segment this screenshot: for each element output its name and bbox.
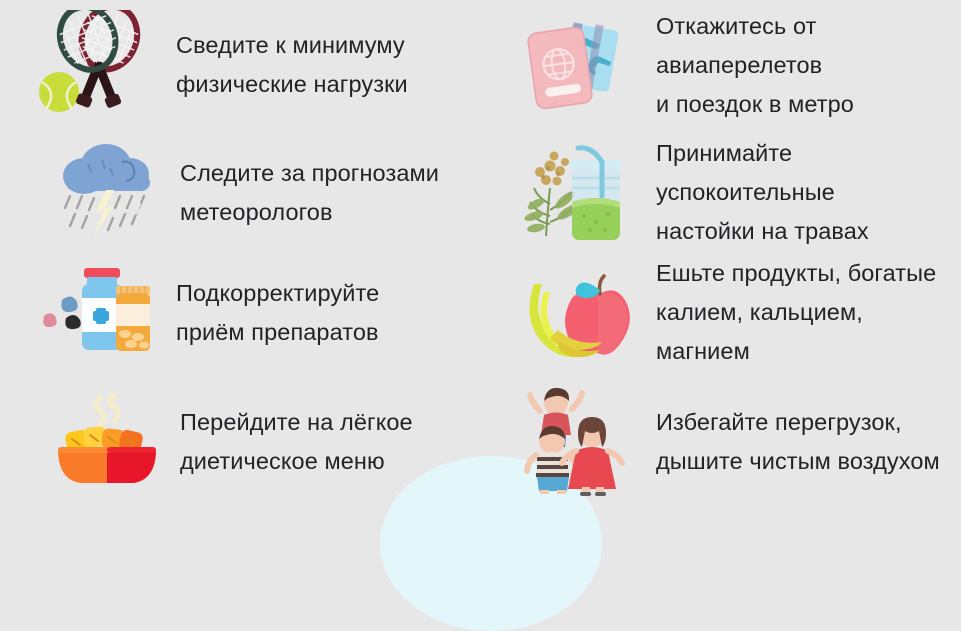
- tip-line-1: Следите за прогнозами: [180, 160, 439, 186]
- tip-label: Следите за прогнозами метеорологов: [180, 154, 439, 232]
- herbal-smoothie-icon: [510, 138, 636, 248]
- tip-line-1: Избегайте перегрузок,: [656, 409, 902, 435]
- tip-line-2: калием, кальцием, магнием: [656, 299, 863, 364]
- tips-grid: Сведите к минимуму физические нагрузки: [0, 0, 961, 513]
- tip-light-diet: Перейдите на лёгкое диетическое меню: [0, 370, 480, 513]
- tip-line-2: и поездок в метро: [656, 91, 854, 117]
- tip-avoid-flights: Откажитесь от авиаперелетов и поездок в …: [480, 0, 961, 130]
- tip-weather-forecast: Следите за прогнозами метеорологов: [0, 130, 480, 255]
- rain-cloud-icon: [44, 138, 170, 248]
- tip-line-2: физические нагрузки: [176, 71, 408, 97]
- tip-line-1: Принимайте успокоительные: [656, 140, 835, 205]
- tip-herbal-sedatives: Принимайте успокоительные настойки на тр…: [480, 130, 961, 255]
- passport-boarding-pass-icon: [514, 10, 640, 120]
- tip-label: Принимайте успокоительные настойки на тр…: [656, 134, 961, 251]
- tip-line-2: метеорологов: [180, 199, 333, 225]
- tip-adjust-medication: Подкорректируйте приём препаратов: [0, 255, 480, 370]
- tip-line-1: Подкорректируйте: [176, 280, 379, 306]
- tip-eat-rich-foods: Ешьте продукты, богатые калием, кальцием…: [480, 255, 961, 370]
- tip-line-1: Сведите к минимуму: [176, 32, 405, 58]
- tip-label: Ешьте продукты, богатые калием, кальцием…: [656, 254, 961, 371]
- tip-label: Перейдите на лёгкое диетическое меню: [180, 403, 413, 481]
- tip-line-2: настойки на травах: [656, 218, 869, 244]
- tip-line-2: приём препаратов: [176, 319, 379, 345]
- tip-physical-activity: Сведите к минимуму физические нагрузки: [0, 0, 480, 130]
- tip-line-1: Перейдите на лёгкое: [180, 409, 413, 435]
- medicine-bottles-icon: [32, 258, 158, 368]
- fruits-banana-apple-icon: [514, 258, 640, 368]
- tip-line-2: дышите чистым воздухом: [656, 448, 940, 474]
- tip-label: Сведите к минимуму физические нагрузки: [176, 26, 408, 104]
- tip-label: Подкорректируйте приём препаратов: [176, 274, 379, 352]
- tip-line-1: Откажитесь от авиаперелетов: [656, 13, 822, 78]
- children-playing-icon: [516, 387, 642, 497]
- tip-label: Избегайте перегрузок, дышите чистым возд…: [656, 403, 940, 481]
- tip-label: Откажитесь от авиаперелетов и поездок в …: [656, 7, 961, 124]
- tip-line-2: диетическое меню: [180, 448, 385, 474]
- infographic-root: Сведите к минимуму физические нагрузки: [0, 0, 961, 513]
- tennis-rackets-icon: [36, 10, 162, 120]
- soup-bowl-icon: [44, 387, 170, 497]
- tip-line-1: Ешьте продукты, богатые: [656, 260, 936, 286]
- tip-avoid-overload: Избегайте перегрузок, дышите чистым возд…: [480, 370, 961, 513]
